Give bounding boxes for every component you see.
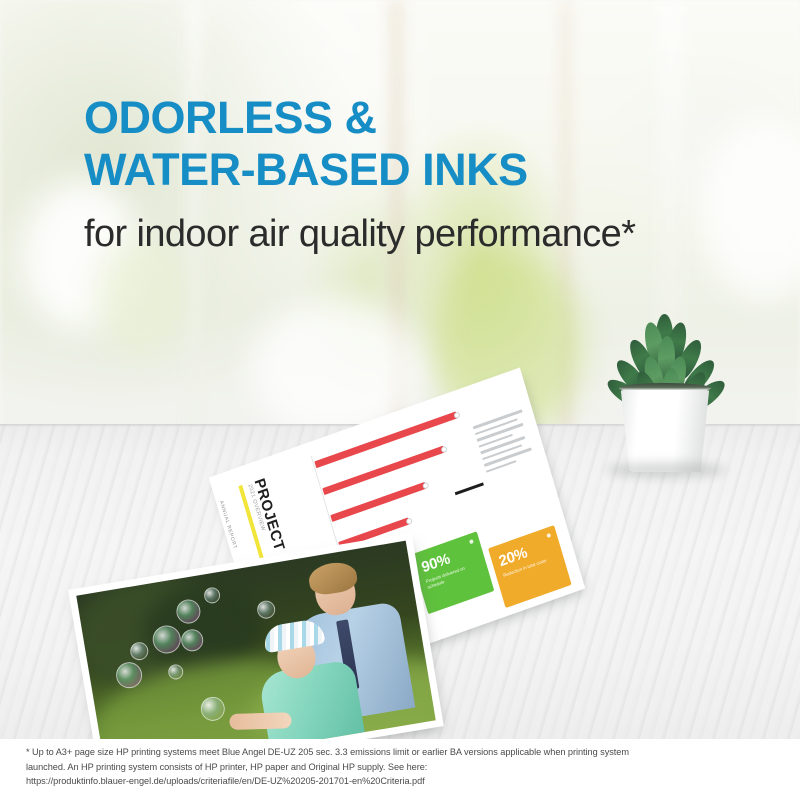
headline-line-2: WATER-BASED INKS xyxy=(84,144,744,196)
stat-dot xyxy=(469,539,474,544)
brochure-body-text xyxy=(473,409,537,476)
chart-bar xyxy=(330,482,426,522)
footnote-disclaimer: * Up to A3+ page size HP printing system… xyxy=(0,739,800,800)
chart-bar-endpoint xyxy=(453,411,460,419)
footnote-line-3: https://produktinfo.blauer-engel.de/uplo… xyxy=(0,774,800,789)
footnote-line-2: launched. An HP printing system consists… xyxy=(0,760,800,775)
pot-shadow xyxy=(606,462,726,478)
stat-dot xyxy=(546,533,551,538)
product-scene-photo: ODORLESS & WATER-BASED INKS for indoor a… xyxy=(0,0,800,739)
potted-succulent xyxy=(600,312,730,472)
footnote-line-1: * Up to A3+ page size HP printing system… xyxy=(0,739,800,760)
chart-bar-endpoint xyxy=(405,517,412,525)
plant-pot xyxy=(618,390,712,472)
marketing-poster: ODORLESS & WATER-BASED INKS for indoor a… xyxy=(0,0,800,800)
subheadline: for indoor air quality performance* xyxy=(84,212,635,256)
chart-bar-endpoint xyxy=(440,446,447,454)
stat-box: 90% Projects delivered on schedule xyxy=(411,531,495,614)
child-hat xyxy=(262,618,325,654)
chart-bar-endpoint xyxy=(422,482,429,490)
headline: ODORLESS & WATER-BASED INKS xyxy=(84,92,744,196)
stat-box: 20% Reduction in total costs xyxy=(488,525,572,608)
headline-line-1: ODORLESS & xyxy=(84,92,744,144)
child-arm xyxy=(229,712,291,730)
child-figure xyxy=(232,609,381,739)
